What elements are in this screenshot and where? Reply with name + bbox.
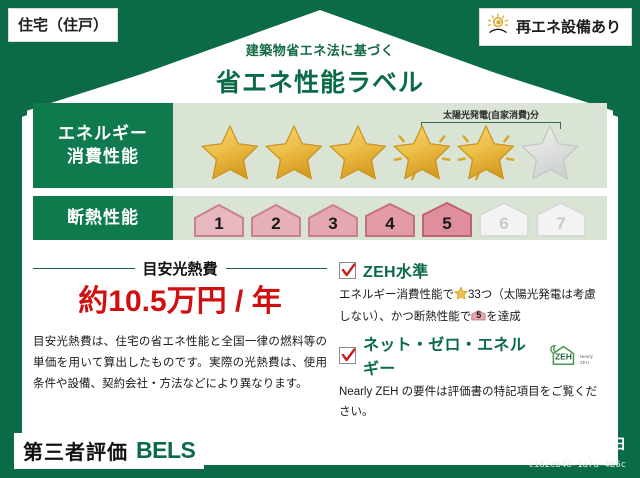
insulation-scale: 1 2 3 4 5 bbox=[173, 196, 607, 240]
insulation-step-achieved: 5 bbox=[420, 202, 474, 238]
cost-heading-row: 目安光熱費 bbox=[33, 258, 327, 279]
zeh-logo-sub: Nearly ZEH bbox=[580, 354, 601, 368]
net-zero-title: ネット・ゼロ・エネルギー bbox=[363, 331, 541, 379]
energy-label-line2: 消費性能 bbox=[67, 146, 139, 169]
cost-note: 目安光熱費は、住宅の省エネ性能と全国一律の燃料等の単価を用いて算出したものです。… bbox=[33, 332, 327, 396]
checkbox-net-zero-energy[interactable] bbox=[339, 347, 356, 364]
zeh-standard-title: ZEH水準 bbox=[363, 258, 429, 282]
insulation-step: 4 bbox=[363, 202, 417, 238]
insulation-step-label: 3 bbox=[328, 215, 337, 238]
unit-number: 102号室 bbox=[275, 449, 324, 464]
insulation-performance-row: 断熱性能 1 2 3 bbox=[33, 196, 607, 240]
star-empty bbox=[519, 121, 581, 183]
insulation-step-label: 1 bbox=[214, 215, 223, 238]
evaluation-date-label: 評価日 bbox=[484, 436, 526, 452]
insulation-step-inactive: 6 bbox=[477, 202, 531, 238]
energy-performance-label: エネルギー 消費性能 bbox=[33, 103, 173, 188]
insulation-step: 3 bbox=[306, 202, 360, 238]
svg-text:ZEH: ZEH bbox=[555, 352, 572, 362]
energy-label-root: 住宅（住戸） 再エネ設備あり 建築物省エネ法に基づく bbox=[0, 0, 640, 478]
renewable-badge-label: 再エネ設備あり bbox=[516, 16, 621, 37]
net-zero-head: ネット・ゼロ・エネルギー ZEH Nearly ZEH bbox=[339, 331, 601, 379]
insulation-step-label: 5 bbox=[442, 215, 451, 238]
bels-badge: 第三者評価 BELS bbox=[14, 433, 204, 469]
cost-amount: 約10.5万円 / 年 bbox=[33, 285, 327, 320]
star-filled bbox=[327, 121, 389, 183]
cost-column: 目安光熱費 約10.5万円 / 年 目安光熱費は、住宅の省エネ性能と全国一律の燃… bbox=[33, 258, 333, 427]
star-filled bbox=[263, 121, 325, 183]
zeh-standard-desc: エネルギー消費性能で33つ（太陽光発電は考慮しない）、かつ断熱性能で5を達成 bbox=[339, 285, 601, 327]
checkbox-zeh-standard[interactable] bbox=[339, 262, 356, 279]
solar-bracket-label: 太陽光発電(自家消費)分 bbox=[421, 108, 561, 121]
star-filled-solar bbox=[455, 121, 517, 183]
building-name: Serdina bbox=[210, 449, 257, 464]
insulation-step: 1 bbox=[192, 202, 246, 238]
metrics-block: エネルギー 消費性能 太陽光発電(自家消費)分 bbox=[33, 103, 607, 248]
bels-jp-label: 第三者評価 bbox=[23, 436, 128, 465]
energy-label-line1: エネルギー bbox=[58, 123, 148, 146]
rule-left bbox=[33, 268, 135, 270]
insulation-step-label: 6 bbox=[499, 215, 508, 238]
insulation-performance-label: 断熱性能 bbox=[33, 196, 173, 240]
zeh-standard-head: ZEH水準 bbox=[339, 258, 601, 282]
inline-insulation-value: 5 bbox=[471, 309, 486, 322]
insulation-performance-value: 1 2 3 4 5 bbox=[173, 196, 607, 240]
zeh-desc-a: エネルギー消費性能で bbox=[339, 289, 454, 301]
insulation-step-label: 7 bbox=[556, 215, 565, 238]
inline-insulation-badge: 5 bbox=[471, 309, 486, 322]
net-zero-energy-check: ネット・ゼロ・エネルギー ZEH Nearly ZEH Nearly ZEH の… bbox=[339, 331, 601, 422]
zeh-desc-c: を達成 bbox=[486, 311, 521, 323]
energy-performance-row: エネルギー 消費性能 太陽光発電(自家消費)分 bbox=[33, 103, 607, 188]
star-filled bbox=[199, 121, 261, 183]
cost-heading: 目安光熱費 bbox=[143, 258, 218, 279]
label-title: 省エネ性能ラベル bbox=[0, 63, 640, 99]
evaluation-date: 評価日 2026年2月19日 bbox=[484, 434, 626, 454]
footer-bar: 第三者評価 BELS Serdina 102号室 評価日 2026年2月19日 … bbox=[0, 428, 640, 478]
evaluation-id: c182cb48-1a7a-4b6c bbox=[528, 460, 626, 470]
inline-star-icon bbox=[454, 286, 468, 307]
checks-column: ZEH水準 エネルギー消費性能で33つ（太陽光発電は考慮しない）、かつ断熱性能で… bbox=[333, 258, 601, 427]
zeh-logo: ZEH Nearly ZEH bbox=[548, 342, 601, 368]
insulation-step-label: 4 bbox=[385, 215, 394, 238]
insulation-step-inactive: 7 bbox=[534, 202, 588, 238]
net-zero-desc: Nearly ZEH の要件は評価書の特記項目をご覧ください。 bbox=[339, 382, 601, 422]
insulation-step: 2 bbox=[249, 202, 303, 238]
evaluation-date-value: 2026年2月19日 bbox=[529, 436, 626, 452]
building-identity: Serdina 102号室 bbox=[210, 446, 324, 465]
rule-right bbox=[226, 268, 328, 270]
lower-content: 目安光熱費 約10.5万円 / 年 目安光熱費は、住宅の省エネ性能と全国一律の燃… bbox=[33, 258, 607, 427]
zeh-standard-check: ZEH水準 エネルギー消費性能で33つ（太陽光発電は考慮しない）、かつ断熱性能で… bbox=[339, 258, 601, 327]
star-filled-solar bbox=[391, 121, 453, 183]
label-title-block: 建築物省エネ法に基づく 省エネ性能ラベル bbox=[0, 40, 640, 99]
renewable-equipment-badge: 再エネ設備あり bbox=[479, 8, 632, 46]
building-type-tag: 住宅（住戸） bbox=[8, 8, 118, 42]
insulation-step-label: 2 bbox=[271, 215, 280, 238]
energy-performance-value: 太陽光発電(自家消費)分 bbox=[173, 103, 607, 188]
sun-icon bbox=[486, 13, 510, 40]
bels-en-label: BELS bbox=[136, 437, 195, 464]
